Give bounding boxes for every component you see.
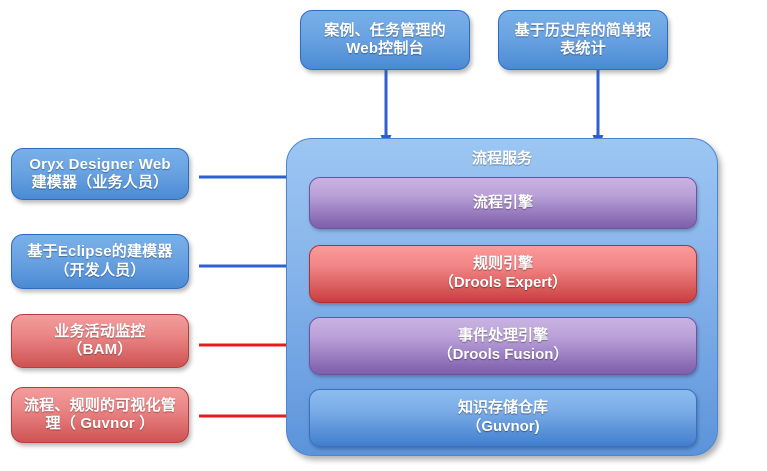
inner-node-event-engine-label: 事件处理引擎 （Drools Fusion） <box>438 327 569 365</box>
node-oryx-designer-label: Oryx Designer Web 建模器（业务人员） <box>29 156 171 193</box>
inner-node-knowledge-repository-label: 知识存储仓库 （Guvnor) <box>458 399 548 437</box>
inner-node-process-engine[interactable]: 流程引擎 <box>309 177 697 229</box>
node-web-console[interactable]: 案例、任务管理的 Web控制台 <box>300 10 470 70</box>
inner-node-rule-engine-label: 规则引擎 （Drools Expert） <box>439 255 567 293</box>
node-guvnor-management[interactable]: 流程、规则的可视化管 理（ Guvnor ） <box>11 387 189 443</box>
node-web-console-label: 案例、任务管理的 Web控制台 <box>324 22 446 59</box>
inner-node-knowledge-repository[interactable]: 知识存储仓库 （Guvnor) <box>309 389 697 447</box>
main-panel-title: 流程服务 <box>287 147 717 168</box>
main-panel-process-service: 流程服务 流程引擎 规则引擎 （Drools Expert） 事件处理引擎 （D… <box>286 138 718 456</box>
inner-node-event-engine[interactable]: 事件处理引擎 （Drools Fusion） <box>309 317 697 375</box>
architecture-diagram: 案例、任务管理的 Web控制台 基于历史库的简单报 表统计 Oryx Desig… <box>0 0 767 471</box>
node-eclipse-modeler-label: 基于Eclipse的建模器 （开发人员） <box>27 243 172 280</box>
inner-node-process-engine-label: 流程引擎 <box>473 194 533 213</box>
node-guvnor-management-label: 流程、规则的可视化管 理（ Guvnor ） <box>24 397 176 434</box>
node-oryx-designer[interactable]: Oryx Designer Web 建模器（业务人员） <box>11 148 189 200</box>
node-bam-label: 业务活动监控 （BAM） <box>54 323 145 360</box>
node-report-stats-label: 基于历史库的简单报 表统计 <box>515 22 652 59</box>
node-eclipse-modeler[interactable]: 基于Eclipse的建模器 （开发人员） <box>11 234 189 289</box>
inner-node-rule-engine[interactable]: 规则引擎 （Drools Expert） <box>309 245 697 303</box>
node-bam[interactable]: 业务活动监控 （BAM） <box>11 314 189 368</box>
node-report-stats[interactable]: 基于历史库的简单报 表统计 <box>498 10 668 70</box>
